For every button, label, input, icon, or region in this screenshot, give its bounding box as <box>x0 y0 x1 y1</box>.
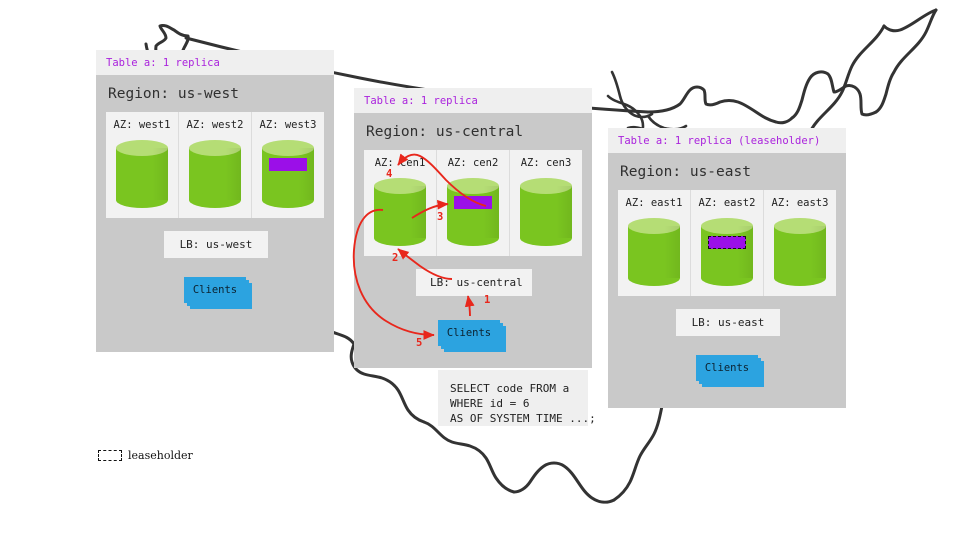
leaseholder-swatch-icon <box>98 450 122 461</box>
az-label-west1: AZ: west1 <box>106 119 178 131</box>
node-cylinder-west1[interactable] <box>116 140 168 206</box>
az-cell-cen2[interactable]: AZ: cen2 <box>437 150 510 256</box>
range-replica-marker <box>269 158 307 171</box>
step-number-2: 2 <box>392 252 398 264</box>
cylinder-shade <box>189 148 241 200</box>
clients-label-us-central: Clients <box>438 320 500 346</box>
load-balancer-us-central[interactable]: LB: us-central <box>416 269 532 296</box>
az-cell-cen3[interactable]: AZ: cen3 <box>510 150 582 256</box>
step-number-1: 1 <box>484 294 490 306</box>
region-panel-us-west[interactable]: Table a: 1 replica Region: us-west AZ: w… <box>96 50 334 352</box>
cylinder-shade <box>447 186 499 238</box>
load-balancer-us-east[interactable]: LB: us-east <box>676 309 780 336</box>
node-cylinder-east3[interactable] <box>774 218 826 284</box>
region-title-us-west: Region: us-west <box>96 75 334 112</box>
az-row-us-central: AZ: cen1 AZ: cen2 AZ: <box>364 150 582 256</box>
cylinder-shade <box>374 186 426 238</box>
az-cell-west1[interactable]: AZ: west1 <box>106 112 179 218</box>
az-cell-cen1[interactable]: AZ: cen1 <box>364 150 437 256</box>
az-cell-east1[interactable]: AZ: east1 <box>618 190 691 296</box>
az-row-us-east: AZ: east1 AZ: east2 A <box>618 190 836 296</box>
az-label-east3: AZ: east3 <box>764 197 836 209</box>
node-cylinder-west3[interactable] <box>262 140 314 206</box>
region-header-us-west: Table a: 1 replica <box>96 50 334 75</box>
sql-query-box: SELECT code FROM a WHERE id = 6 AS OF SY… <box>438 370 588 426</box>
az-cell-west3[interactable]: AZ: west3 <box>252 112 324 218</box>
az-cell-west2[interactable]: AZ: west2 <box>179 112 252 218</box>
step-number-3: 3 <box>437 211 443 223</box>
cylinder-shade <box>520 186 572 238</box>
region-panel-us-east[interactable]: Table a: 1 replica (leaseholder) Region:… <box>608 128 846 408</box>
cylinder-shade <box>628 226 680 278</box>
az-label-cen2: AZ: cen2 <box>437 157 509 169</box>
clients-stack-us-west[interactable]: Clients <box>184 277 246 303</box>
diagram-canvas: Table a: 1 replica Region: us-west AZ: w… <box>0 0 960 540</box>
cylinder-shade <box>774 226 826 278</box>
clients-label-us-west: Clients <box>184 277 246 303</box>
az-label-west3: AZ: west3 <box>252 119 324 131</box>
az-label-east1: AZ: east1 <box>618 197 690 209</box>
az-label-west2: AZ: west2 <box>179 119 251 131</box>
region-header-us-central: Table a: 1 replica <box>354 88 592 113</box>
legend-label: leaseholder <box>128 449 193 462</box>
az-row-us-west: AZ: west1 AZ: west2 AZ: west3 <box>106 112 324 218</box>
node-cylinder-east2[interactable] <box>701 218 753 284</box>
clients-stack-us-central[interactable]: Clients <box>438 320 500 346</box>
leaseholder-range-marker <box>708 236 746 249</box>
az-cell-east2[interactable]: AZ: east2 <box>691 190 764 296</box>
step-number-4: 4 <box>386 168 392 180</box>
region-header-us-east: Table a: 1 replica (leaseholder) <box>608 128 846 153</box>
cylinder-shade <box>262 148 314 200</box>
node-cylinder-cen2[interactable] <box>447 178 499 244</box>
region-title-us-central: Region: us-central <box>354 113 592 150</box>
region-panel-us-central[interactable]: Table a: 1 replica Region: us-central AZ… <box>354 88 592 368</box>
node-cylinder-cen1[interactable] <box>374 178 426 244</box>
az-label-cen1: AZ: cen1 <box>364 157 436 169</box>
az-cell-east3[interactable]: AZ: east3 <box>764 190 836 296</box>
node-cylinder-west2[interactable] <box>189 140 241 206</box>
node-cylinder-cen3[interactable] <box>520 178 572 244</box>
az-label-cen3: AZ: cen3 <box>510 157 582 169</box>
cylinder-shade <box>116 148 168 200</box>
legend: leaseholder <box>98 449 193 462</box>
node-cylinder-east1[interactable] <box>628 218 680 284</box>
clients-label-us-east: Clients <box>696 355 758 381</box>
clients-stack-us-east[interactable]: Clients <box>696 355 758 381</box>
cylinder-shade <box>701 226 753 278</box>
load-balancer-us-west[interactable]: LB: us-west <box>164 231 268 258</box>
step-number-5: 5 <box>416 337 422 349</box>
range-replica-marker <box>454 196 492 209</box>
az-label-east2: AZ: east2 <box>691 197 763 209</box>
region-title-us-east: Region: us-east <box>608 153 846 190</box>
